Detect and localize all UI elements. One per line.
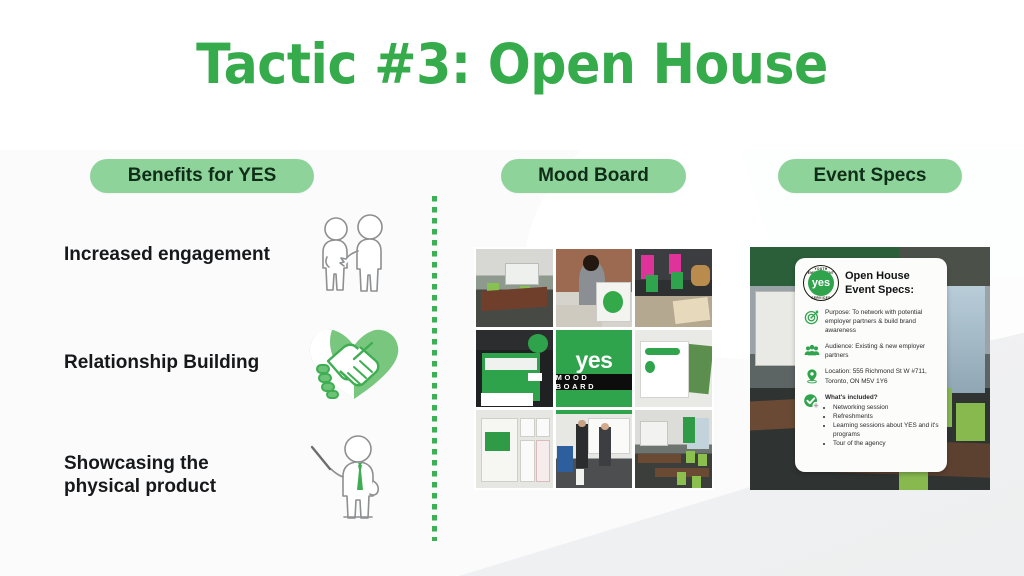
benefit-item-2: Relationship Building <box>64 320 424 406</box>
mood-tile-2 <box>556 249 633 327</box>
location-pin-icon <box>803 367 820 384</box>
event-specs-card-title: Open House Event Specs: <box>845 269 914 298</box>
event-specs-card: YOUTH EMPLOYMENT yes SERVICES Open House… <box>795 258 947 472</box>
mood-tile-6 <box>635 330 712 408</box>
page-title: Tactic #3: Open House <box>41 36 983 94</box>
vertical-dotted-divider <box>432 196 437 541</box>
event-specs-item-audience-text: Audience: Existing & new employer partne… <box>825 342 939 360</box>
presenter-pointer-icon <box>294 425 414 525</box>
slide-canvas: Tactic #3: Open House Benefits for YES M… <box>0 0 1024 576</box>
event-specs-included-heading: What's included? <box>825 393 939 402</box>
event-specs-item-purpose-text: Purpose: To network with potential emplo… <box>825 308 939 335</box>
benefit-item-3-label: Showcasing the physical product <box>64 452 294 498</box>
event-specs-item-included: What's included? Networking session Refr… <box>803 393 939 449</box>
event-specs-card-header: YOUTH EMPLOYMENT yes SERVICES Open House… <box>803 265 939 301</box>
event-specs-item-location-text: Location: 555 Richmond St W #711, Toront… <box>825 367 939 385</box>
event-specs-item-audience: Audience: Existing & new employer partne… <box>803 342 939 360</box>
benefit-item-1: Increased engagement <box>64 212 424 298</box>
event-specs-included-bullet: Tour of the agency <box>833 439 939 448</box>
yes-logo-word: yes <box>808 270 834 296</box>
section-pill-mood-board-label: Mood Board <box>538 165 649 187</box>
section-pill-benefits-label: Benefits for YES <box>128 165 277 187</box>
section-pill-event-specs-label: Event Specs <box>814 165 927 187</box>
event-specs-item-location: Location: 555 Richmond St W #711, Toront… <box>803 367 939 385</box>
benefit-item-3: Showcasing the physical product <box>64 425 424 525</box>
benefit-item-1-label: Increased engagement <box>64 243 294 266</box>
mood-board-grid: yes Open House MOOD BOARD <box>474 247 714 490</box>
event-specs-included-list: Networking session Refreshments Learning… <box>825 403 939 448</box>
event-specs-item-purpose: Purpose: To network with potential emplo… <box>803 308 939 335</box>
event-specs-included-bullet: Refreshments <box>833 412 939 421</box>
handshake-heart-icon <box>294 321 414 405</box>
mood-tile-7 <box>476 410 553 488</box>
event-specs-item-included-text: What's included? Networking session Refr… <box>825 393 939 449</box>
yes-logo-arc-bottom: SERVICES <box>803 296 839 300</box>
mood-tile-9 <box>635 410 712 488</box>
section-pill-event-specs: Event Specs <box>778 159 962 193</box>
mood-tile-3 <box>635 249 712 327</box>
mood-board-caption-bar: MOOD BOARD <box>556 374 633 390</box>
yes-logo-icon: YOUTH EMPLOYMENT yes SERVICES <box>803 265 839 301</box>
mood-tile-8 <box>556 410 633 488</box>
event-specs-included-bullet: Learning sessions about YES and it's pro… <box>833 421 939 439</box>
benefit-item-2-label: Relationship Building <box>64 351 294 374</box>
mood-tile-brand-label: yes <box>576 349 613 372</box>
event-specs-title-line-1: Open House <box>845 269 914 283</box>
mood-tile-center-title: yes Open House MOOD BOARD <box>556 330 633 408</box>
target-dart-icon <box>803 308 820 325</box>
check-circle-icon <box>803 393 820 410</box>
two-people-talking-icon <box>294 213 414 297</box>
mood-board-caption-label: MOOD BOARD <box>556 373 633 391</box>
section-pill-benefits: Benefits for YES <box>90 159 314 193</box>
event-specs-title-line-2: Event Specs: <box>845 283 914 297</box>
people-group-icon <box>803 342 820 359</box>
mood-tile-1 <box>476 249 553 327</box>
mood-tile-4 <box>476 330 553 408</box>
section-pill-mood-board: Mood Board <box>501 159 686 193</box>
event-specs-included-bullet: Networking session <box>833 403 939 412</box>
